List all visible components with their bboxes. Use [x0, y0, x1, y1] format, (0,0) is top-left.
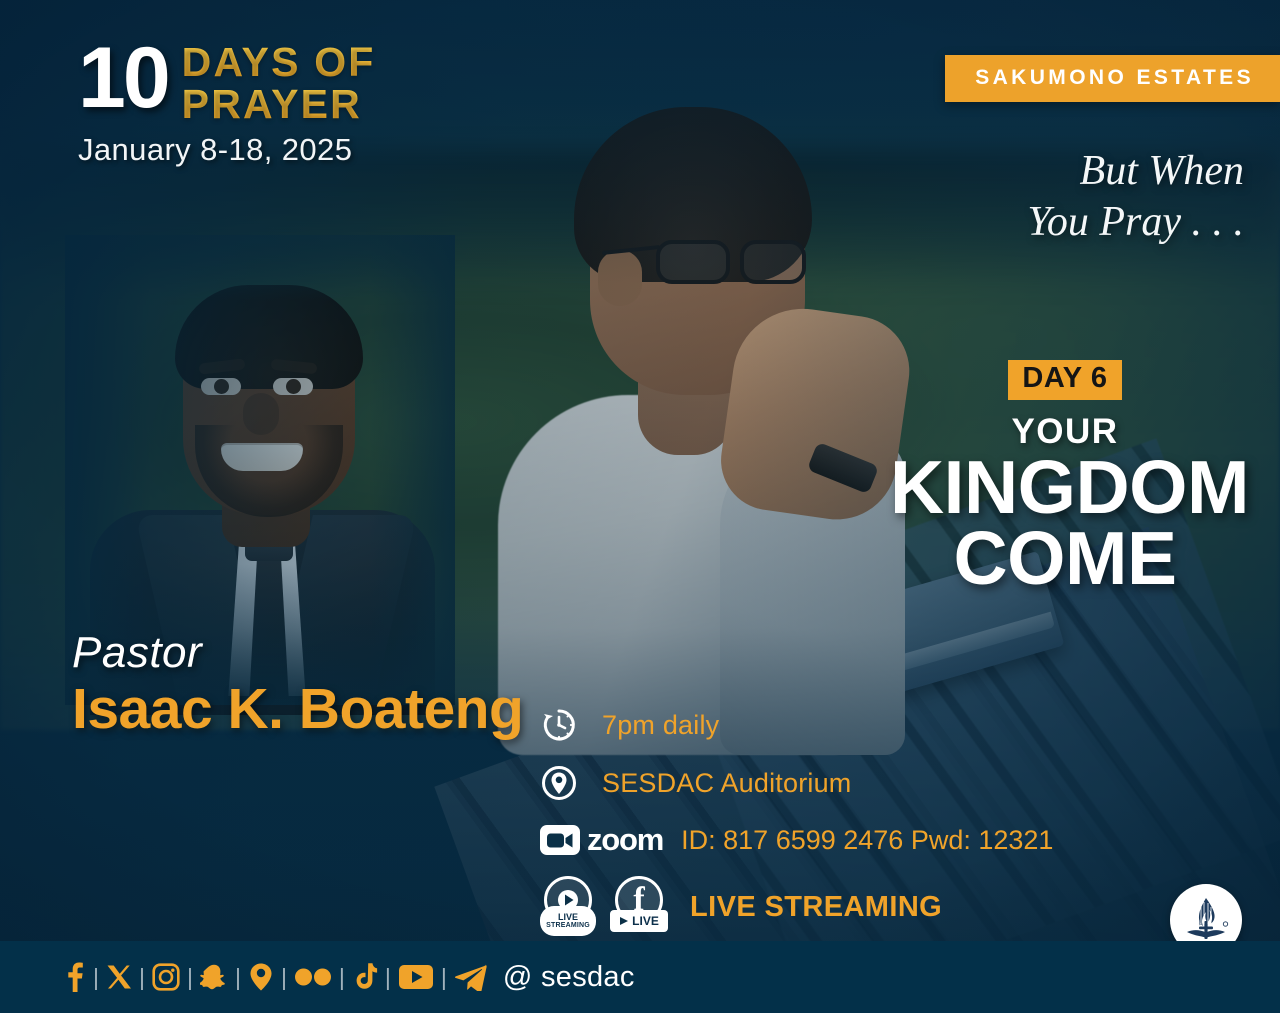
separator: | [187, 964, 193, 991]
speaker-name: Isaac K. Boateng [72, 676, 523, 742]
tagline-line-1: But When [1027, 146, 1244, 197]
youtube-icon[interactable] [398, 964, 434, 990]
prayer-event-poster: 10 DAYS OF PRAYER January 8-18, 2025 SAK… [0, 0, 1280, 1013]
location-banner: SAKUMONO ESTATES [945, 55, 1280, 102]
detail-row-venue: SESDAC Auditorium [540, 764, 1053, 802]
tiktok-icon[interactable] [352, 962, 378, 992]
zoom-meeting-details: ID: 817 6599 2476 Pwd: 12321 [681, 825, 1053, 856]
youtube-live-line-2: STREAMING [546, 922, 590, 929]
detail-row-zoom: zoom ID: 817 6599 2476 Pwd: 12321 [540, 822, 1053, 858]
title-line-1: DAYS OF [182, 42, 376, 84]
theme-word-2: COME [890, 523, 1240, 594]
theme-word-1: KINGDOM [890, 452, 1240, 523]
separator: | [281, 964, 287, 991]
facebook-live-badge: f LIVE [610, 876, 668, 938]
footer-bar: | | | | [0, 941, 1280, 1013]
zoom-brand-label: zoom [587, 822, 663, 858]
tagline-line-2: You Pray . . . [1027, 197, 1244, 248]
event-dates: January 8-18, 2025 [78, 132, 376, 168]
scripture-tagline: But When You Pray . . . [1027, 146, 1244, 248]
separator: | [339, 964, 345, 991]
youtube-live-badge: LIVE STREAMING [540, 876, 596, 938]
event-time: 7pm daily [602, 710, 719, 741]
speaker-title: Pastor [72, 628, 523, 678]
separator: | [235, 964, 241, 991]
clock-recurring-icon [540, 706, 586, 744]
event-title-block: 10 DAYS OF PRAYER January 8-18, 2025 [78, 38, 376, 168]
location-pin-icon [540, 764, 586, 802]
snapchat-icon[interactable] [200, 963, 228, 991]
title-line-2: PRAYER [182, 84, 376, 126]
social-handle: @ sesdac [503, 961, 635, 994]
facebook-live-text: LIVE [632, 914, 659, 928]
separator: | [441, 964, 447, 991]
event-venue: SESDAC Auditorium [602, 768, 852, 799]
day-theme-block: DAY 6 YOUR KINGDOM COME [890, 360, 1240, 594]
telegram-icon[interactable] [454, 963, 488, 991]
x-icon[interactable] [106, 964, 132, 990]
live-streaming-label: LIVE STREAMING [690, 891, 942, 924]
separator: | [385, 964, 391, 991]
flickr-icon[interactable] [294, 967, 332, 987]
youtube-live-line-1: LIVE [558, 913, 578, 922]
zoom-camera-icon [540, 825, 580, 855]
detail-row-live-streaming: LIVE STREAMING f LIVE LIVE STREAMING [540, 876, 1053, 938]
instagram-icon[interactable] [152, 963, 180, 991]
social-links: | | | | [62, 955, 635, 999]
zoom-logo: zoom [540, 822, 663, 858]
youtube-live-label: LIVE STREAMING [540, 906, 596, 936]
day-badge: DAY 6 [1008, 360, 1121, 400]
detail-row-time: 7pm daily [540, 706, 1053, 744]
play-triangle-icon [619, 916, 629, 926]
separator: | [139, 964, 145, 991]
separator: | [93, 964, 99, 991]
facebook-live-label: LIVE [610, 910, 668, 932]
days-count: 10 [78, 38, 168, 119]
periscope-icon[interactable] [248, 962, 274, 992]
facebook-icon[interactable] [62, 961, 86, 993]
location-banner-label: SAKUMONO ESTATES [975, 66, 1254, 89]
event-details-list: 7pm daily SESDAC Auditorium [540, 706, 1053, 938]
speaker-block: Pastor Isaac K. Boateng [72, 628, 523, 742]
